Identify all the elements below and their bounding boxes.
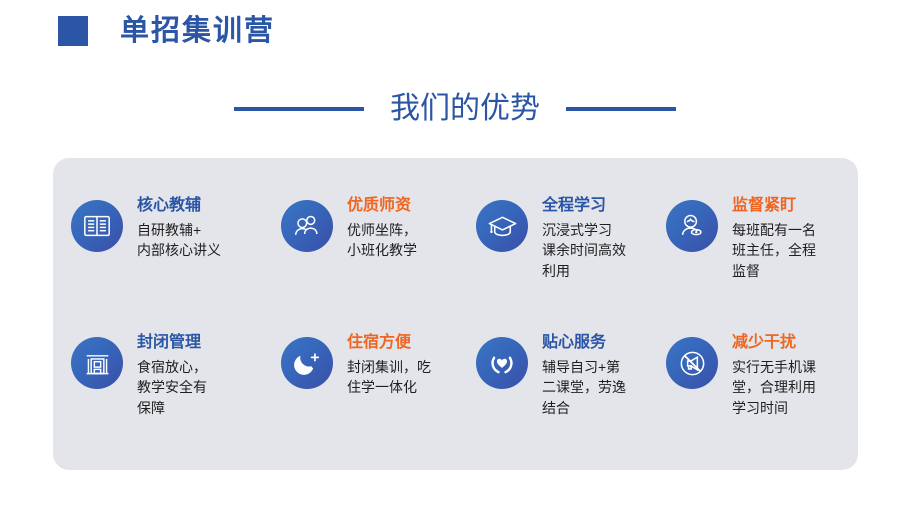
desc-line: 保障: [137, 398, 207, 418]
feature-description: 每班配有一名 班主任，全程 监督: [732, 220, 816, 281]
desc-line: 监督: [732, 261, 816, 281]
no-megaphone-icon: [666, 337, 718, 389]
feature-item-core-materials[interactable]: 核心教辅 自研教辅+ 内部核心讲义: [71, 196, 271, 261]
features-panel: 核心教辅 自研教辅+ 内部核心讲义 优质师资 优师坐阵，: [53, 158, 858, 470]
desc-line: 辅导自习+第: [542, 357, 626, 377]
page-title: 单招集训营: [120, 17, 275, 46]
feature-text: 封闭管理 食宿放心， 教学安全有 保障: [137, 333, 207, 418]
feature-title: 全程学习: [542, 196, 626, 216]
desc-line: 优师坐阵，: [347, 220, 417, 240]
feature-text: 减少干扰 实行无手机课 堂，合理利用 学习时间: [732, 333, 816, 418]
feature-title: 住宿方便: [347, 333, 431, 353]
feature-item-caring-service[interactable]: 贴心服务 辅导自习+第 二课堂，劳逸 结合: [476, 333, 668, 418]
section-heading: 我们的优势: [0, 85, 910, 133]
feature-text: 贴心服务 辅导自习+第 二课堂，劳逸 结合: [542, 333, 626, 418]
feature-title: 贴心服务: [542, 333, 626, 353]
feature-item-supervision[interactable]: 监督紧盯 每班配有一名 班主任，全程 监督: [666, 196, 858, 281]
feature-description: 封闭集训，吃 住学一体化: [347, 357, 431, 398]
feature-title: 优质师资: [347, 196, 417, 216]
desc-line: 食宿放心，: [137, 357, 207, 377]
desc-line: 小班化教学: [347, 240, 417, 260]
desc-line: 堂，合理利用: [732, 377, 816, 397]
desc-line: 封闭集训，吃: [347, 357, 431, 377]
feature-title: 减少干扰: [732, 333, 816, 353]
crescent-moon-plus-icon: [281, 337, 333, 389]
feature-title: 核心教辅: [137, 196, 221, 216]
desc-line: 内部核心讲义: [137, 240, 221, 260]
desc-line: 利用: [542, 261, 626, 281]
heart-in-hands-icon: [476, 337, 528, 389]
building-icon: [71, 337, 123, 389]
desc-line: 结合: [542, 398, 626, 418]
feature-description: 辅导自习+第 二课堂，劳逸 结合: [542, 357, 626, 418]
features-grid: 核心教辅 自研教辅+ 内部核心讲义 优质师资 优师坐阵，: [53, 158, 858, 470]
desc-line: 自研教辅+: [137, 220, 221, 240]
desc-line: 沉浸式学习: [542, 220, 626, 240]
feature-title: 监督紧盯: [732, 196, 816, 216]
feature-title: 封闭管理: [137, 333, 207, 353]
slide-header: 单招集训营: [0, 0, 910, 62]
feature-description: 沉浸式学习 课余时间高效 利用: [542, 220, 626, 281]
desc-line: 学习时间: [732, 398, 816, 418]
graduation-cap-icon: [476, 200, 528, 252]
two-people-icon: [281, 200, 333, 252]
heading-rule-left: [234, 107, 364, 111]
desc-line: 住学一体化: [347, 377, 431, 397]
desc-line: 课余时间高效: [542, 240, 626, 260]
desc-line: 实行无手机课: [732, 357, 816, 377]
feature-text: 住宿方便 封闭集训，吃 住学一体化: [347, 333, 431, 398]
feature-item-reduce-distraction[interactable]: 减少干扰 实行无手机课 堂，合理利用 学习时间: [666, 333, 858, 418]
feature-description: 实行无手机课 堂，合理利用 学习时间: [732, 357, 816, 418]
feature-text: 监督紧盯 每班配有一名 班主任，全程 监督: [732, 196, 816, 281]
desc-line: 每班配有一名: [732, 220, 816, 240]
feature-text: 核心教辅 自研教辅+ 内部核心讲义: [137, 196, 221, 261]
feature-description: 食宿放心， 教学安全有 保障: [137, 357, 207, 418]
feature-item-convenient-housing[interactable]: 住宿方便 封闭集训，吃 住学一体化: [281, 333, 473, 398]
desc-line: 班主任，全程: [732, 240, 816, 260]
desc-line: 二课堂，劳逸: [542, 377, 626, 397]
feature-description: 优师坐阵， 小班化教学: [347, 220, 417, 261]
feature-description: 自研教辅+ 内部核心讲义: [137, 220, 221, 261]
open-book-icon: [71, 200, 123, 252]
feature-text: 优质师资 优师坐阵， 小班化教学: [347, 196, 417, 261]
heading-rule-right: [566, 107, 676, 111]
feature-item-full-course-study[interactable]: 全程学习 沉浸式学习 课余时间高效 利用: [476, 196, 668, 281]
feature-text: 全程学习 沉浸式学习 课余时间高效 利用: [542, 196, 626, 281]
supervisor-person-icon: [666, 200, 718, 252]
feature-item-quality-teachers[interactable]: 优质师资 优师坐阵， 小班化教学: [281, 196, 473, 261]
header-square-marker-icon: [58, 16, 88, 46]
desc-line: 教学安全有: [137, 377, 207, 397]
section-heading-label: 我们的优势: [390, 94, 540, 124]
feature-item-closed-management[interactable]: 封闭管理 食宿放心， 教学安全有 保障: [71, 333, 271, 418]
